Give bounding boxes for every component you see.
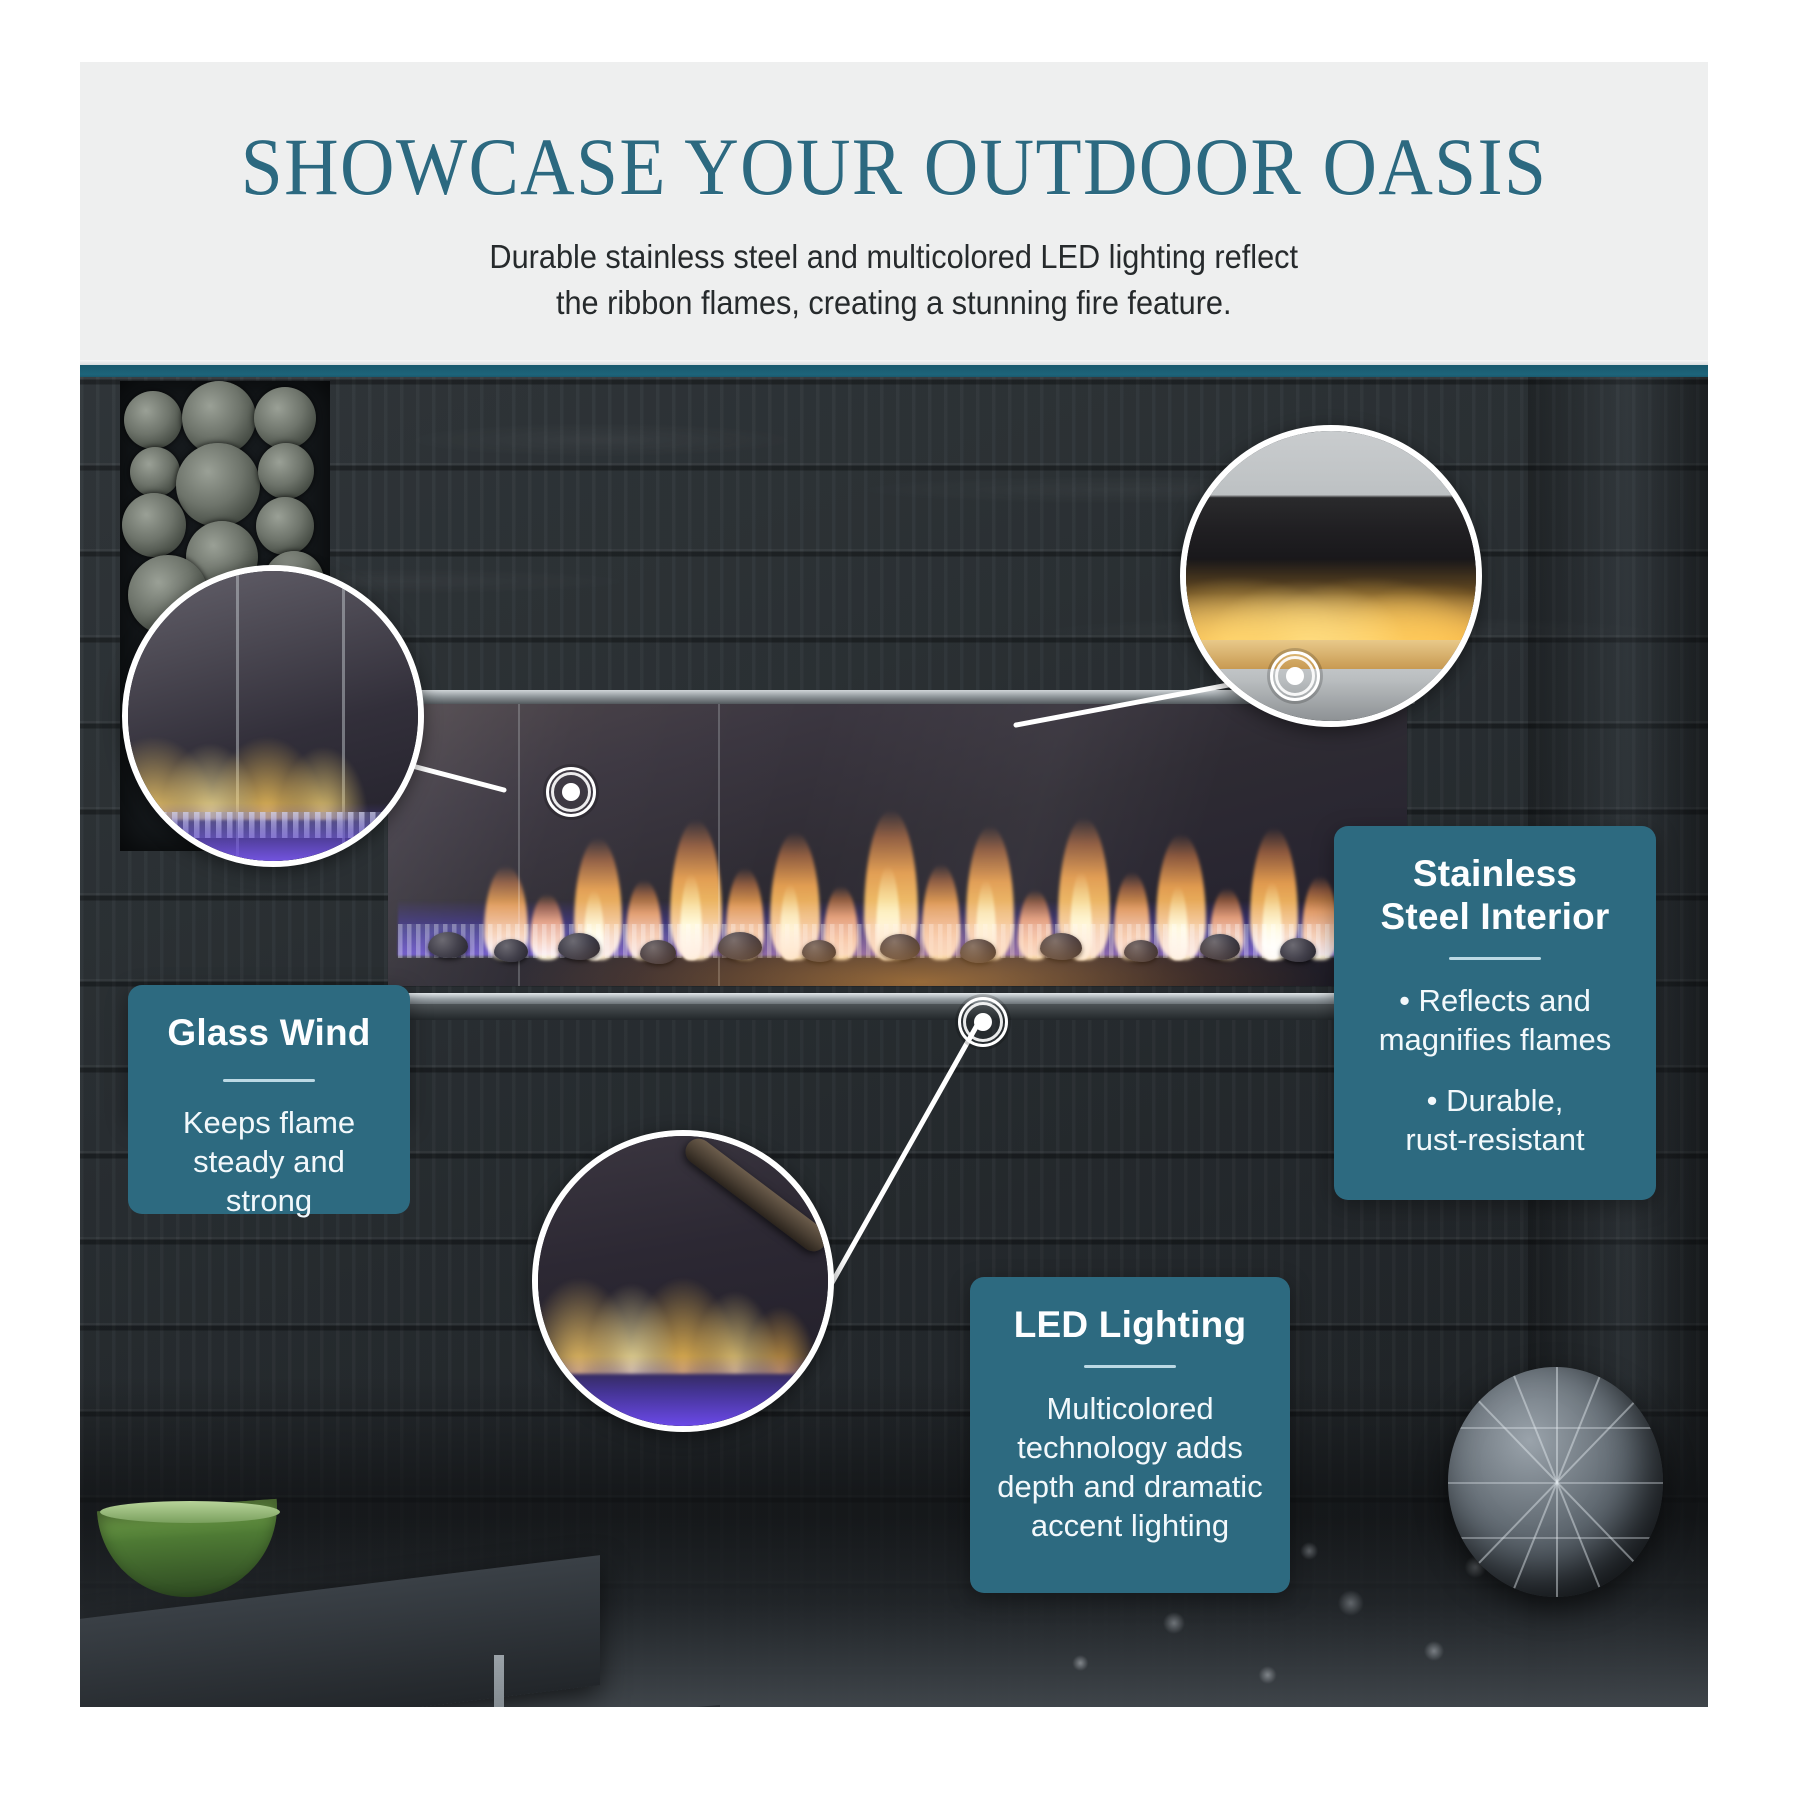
hotspot-dot-led-lighting[interactable] <box>958 997 1008 1047</box>
watermelon-bowl-rim <box>100 1501 280 1523</box>
closeup-flames <box>532 1240 834 1373</box>
callout-divider <box>223 1079 315 1082</box>
callout-divider <box>1449 957 1541 960</box>
stone-lantern <box>1448 1367 1663 1597</box>
page-subtitle: Durable stainless steel and multicolored… <box>490 234 1299 326</box>
callout-body-0: Keeps flame steady and strong <box>128 1103 410 1220</box>
callout-card-glass-wind-guard-body: Keeps flame steady and strong <box>128 1060 410 1214</box>
led-lighting-zoom-circle <box>532 1130 834 1432</box>
closeup-led-glow <box>128 803 418 861</box>
callout-body-0: • Reflects and magnifies flames <box>1352 981 1638 1059</box>
callout-title: Stainless Steel Interior <box>1352 852 1638 938</box>
linear-fireplace <box>380 690 1415 1020</box>
fireplace-firebox <box>388 704 1407 986</box>
closeup-flames <box>1180 547 1482 646</box>
closeup-led-glow <box>538 1356 828 1426</box>
page-title: SHOWCASE YOUR OUTDOOR OASIS <box>241 124 1548 210</box>
hotspot-dot-glass-wind-guard[interactable] <box>546 767 596 817</box>
callout-card-led-lighting[interactable]: LED Lighting Multicolored technology add… <box>970 1277 1290 1593</box>
fireplace-base <box>380 1004 1415 1020</box>
patio-chair <box>490 1655 720 1707</box>
chair-seat <box>490 1705 720 1707</box>
infographic-root: SHOWCASE YOUR OUTDOOR OASIS Durable stai… <box>0 0 1800 1800</box>
closeup-ember-bed <box>1186 640 1476 669</box>
callout-title: LED Lighting <box>988 1303 1272 1346</box>
callout-card-stainless-steel-interior[interactable]: Stainless Steel Interior • Reflects and … <box>1334 826 1656 1200</box>
callout-body-1: • Durable, rust-resistant <box>1352 1081 1638 1159</box>
header-panel: SHOWCASE YOUR OUTDOOR OASIS Durable stai… <box>80 62 1708 365</box>
stainless-steel-zoom-circle <box>1180 425 1482 727</box>
callout-divider <box>1084 1365 1176 1368</box>
hotspot-dot-stainless-steel[interactable] <box>1270 651 1320 701</box>
callout-body-0: Multicolored technology adds depth and d… <box>988 1389 1272 1545</box>
glass-wind-guard-zoom-circle <box>122 565 424 867</box>
